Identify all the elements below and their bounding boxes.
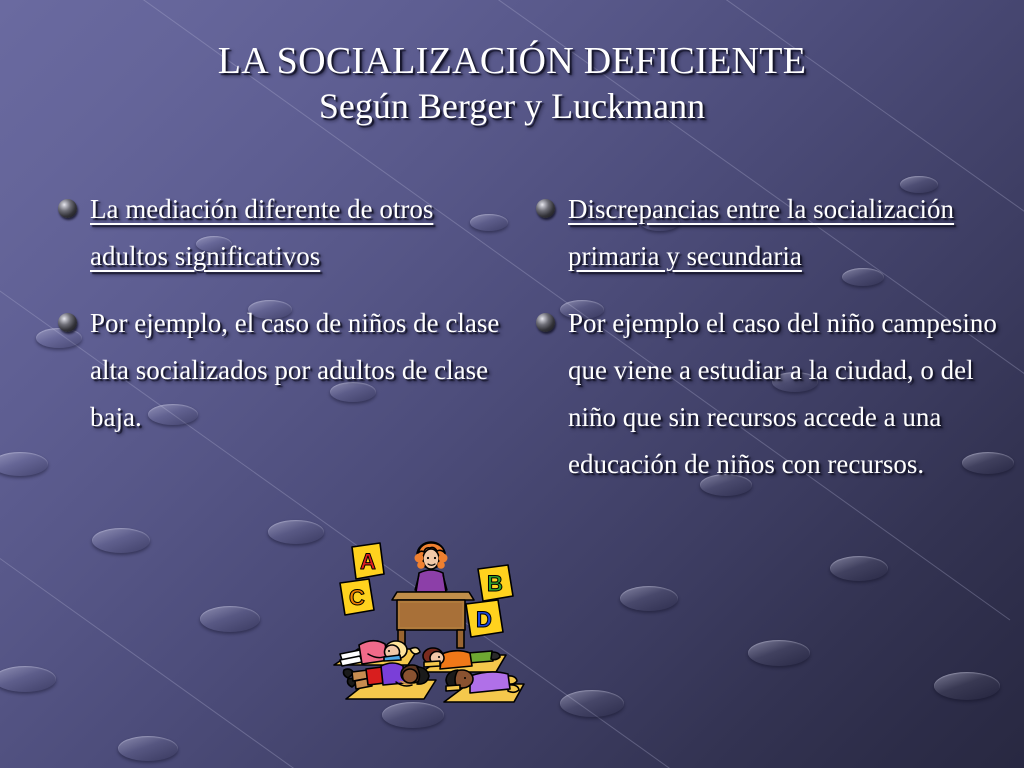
sphere-bullet-icon xyxy=(58,199,77,218)
presentation-slide: LA SOCIALIZACIÓN DEFICIENTE Según Berger… xyxy=(0,0,1024,768)
letter-card-d: D xyxy=(466,600,503,637)
letter-card-c: C xyxy=(340,579,374,615)
bullet-text: La mediación diferente de otros adultos … xyxy=(90,194,433,271)
bullet-item: Por ejemplo, el caso de niños de clase a… xyxy=(52,300,507,441)
sphere-bullet-icon xyxy=(58,313,77,332)
bullet-text: Por ejemplo, el caso de niños de clase a… xyxy=(90,308,499,432)
svg-text:B: B xyxy=(487,571,503,596)
teacher-figure xyxy=(415,542,448,592)
svg-text:A: A xyxy=(360,549,376,574)
title-line-primary: LA SOCIALIZACIÓN DEFICIENTE xyxy=(0,38,1024,84)
sphere-bullet-icon xyxy=(536,199,555,218)
content-column-right: Discrepancias entre la socialización pri… xyxy=(530,186,1000,508)
bullet-text: Discrepancias entre la socialización pri… xyxy=(568,194,954,271)
title-line-secondary: Según Berger y Luckmann xyxy=(0,84,1024,128)
bullet-item: La mediación diferente de otros adultos … xyxy=(52,186,507,280)
sphere-bullet-icon xyxy=(536,313,555,332)
letter-card-b: B xyxy=(478,565,513,601)
bullet-text: Por ejemplo el caso del niño campesino q… xyxy=(568,308,997,479)
slide-title: LA SOCIALIZACIÓN DEFICIENTE Según Berger… xyxy=(0,38,1024,128)
bullet-item: Discrepancias entre la socialización pri… xyxy=(530,186,1000,280)
svg-text:C: C xyxy=(349,585,365,610)
letter-card-a: A xyxy=(352,543,384,579)
child-upper-right xyxy=(422,648,506,672)
content-column-left: La mediación diferente de otros adultos … xyxy=(52,186,507,461)
svg-text:D: D xyxy=(476,607,492,632)
child-lower-right xyxy=(444,670,524,702)
child-upper-left xyxy=(334,641,420,666)
bullet-item: Por ejemplo el caso del niño campesino q… xyxy=(530,300,1000,488)
teacher-desk xyxy=(392,592,474,648)
child-lower-left xyxy=(344,663,437,699)
classroom-naptime-illustration: A C B D xyxy=(318,536,548,708)
